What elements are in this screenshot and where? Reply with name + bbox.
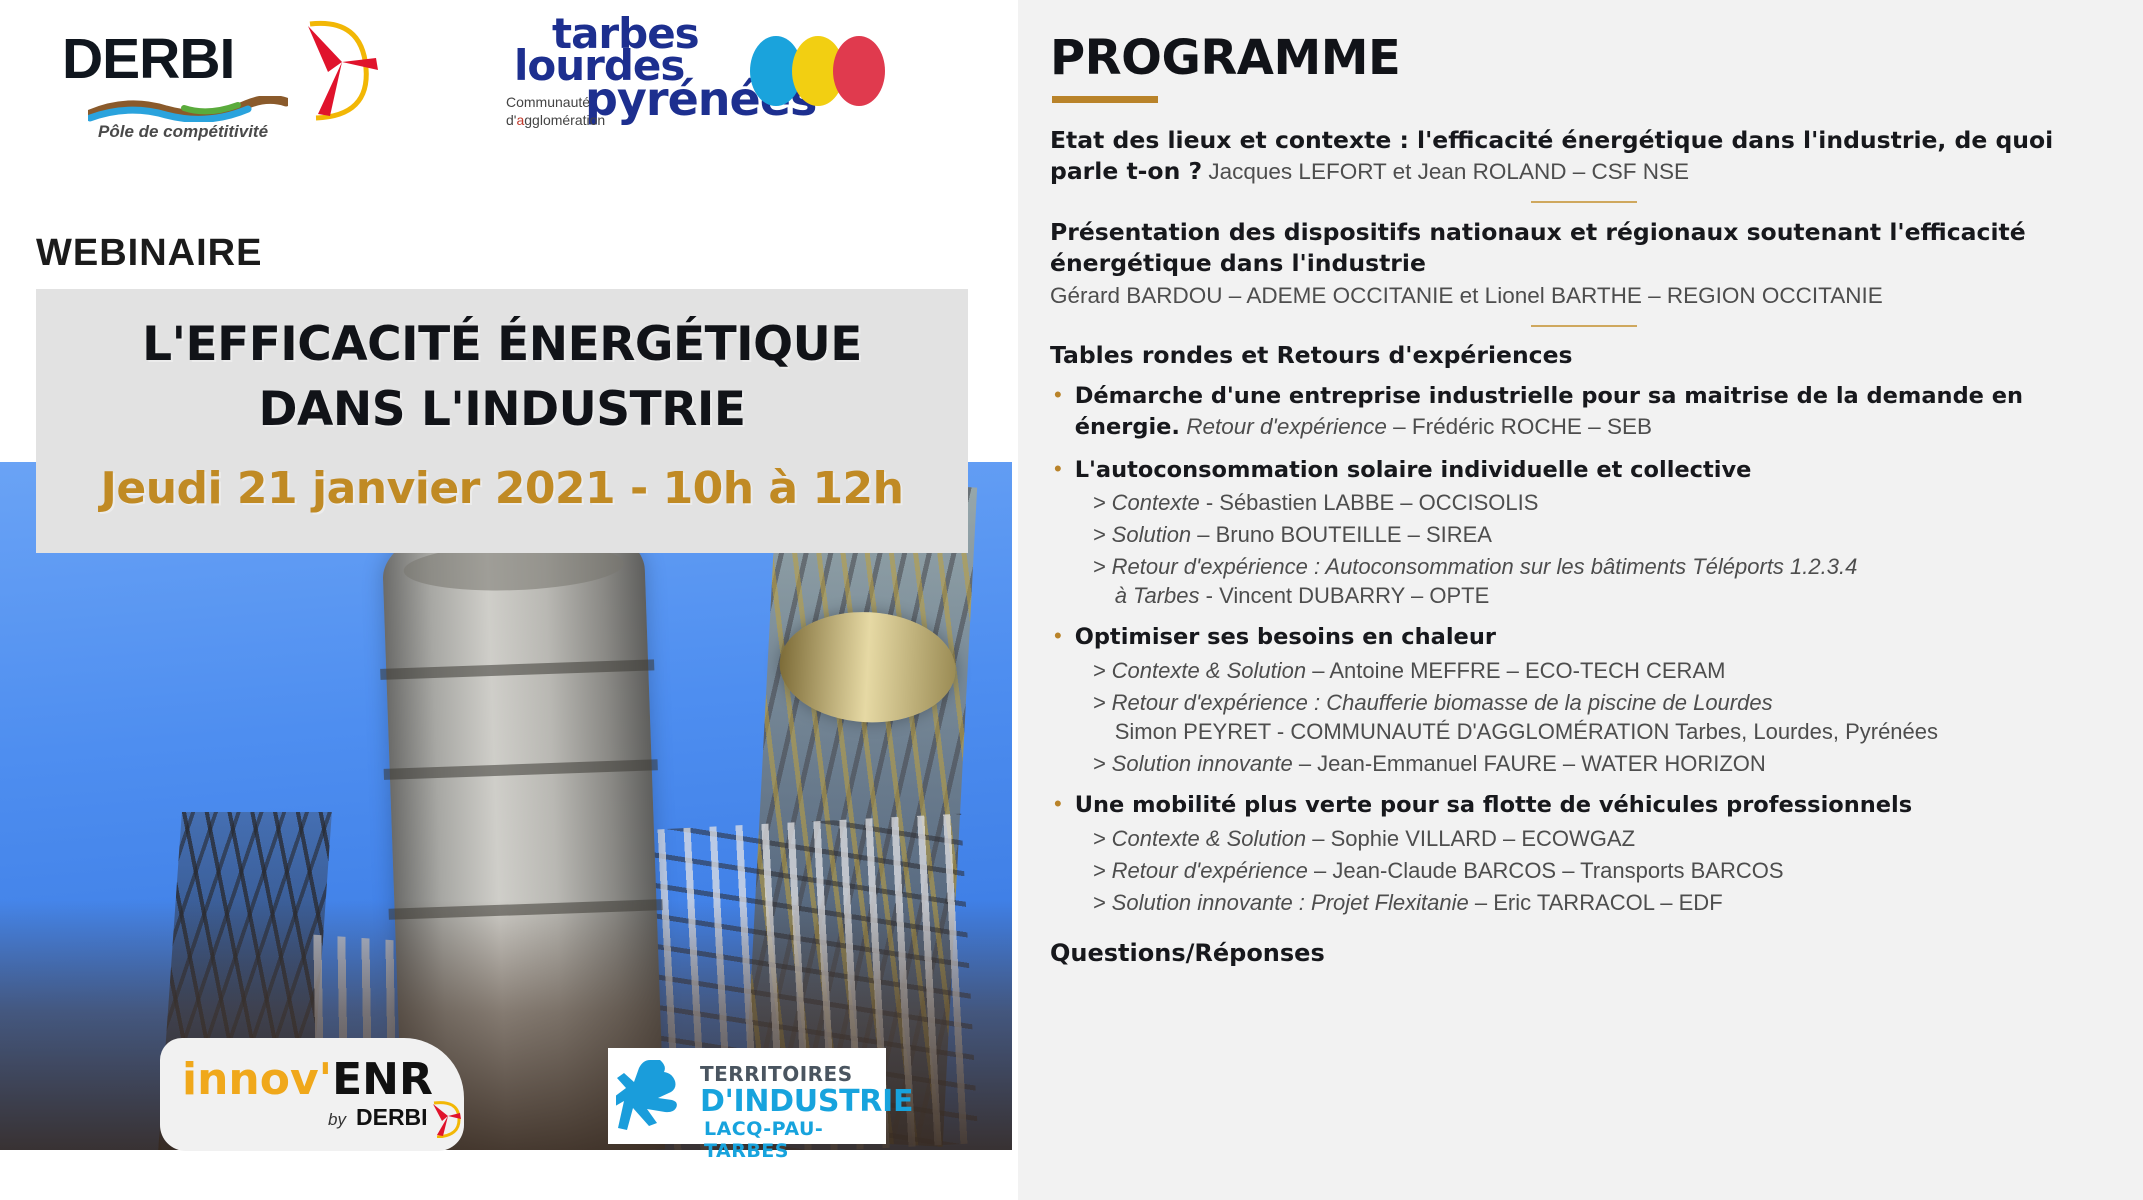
innov-enr-logo: innov'ENR by DERBI (160, 1038, 464, 1151)
poster-page: DERBI Pôle de compétitivité tarbes lourd… (0, 0, 2143, 1200)
bullet-lead: Optimiser ses besoins en chaleur (1075, 623, 2117, 653)
territoires-line-3: LACQ-PAU-TARBES (704, 1118, 886, 1162)
poster-title-line-1: L'EFFICACITÉ ÉNERGÉTIQUE (36, 317, 968, 372)
programme-bullet: • Démarche d'une entreprise industrielle… (1050, 382, 2117, 442)
bullet-lead: L'autoconsommation solaire individuelle … (1075, 456, 2117, 486)
programme-section-1: Etat des lieux et contexte : l'efficacit… (1050, 125, 2117, 187)
territoires-line-2: D'INDUSTRIE (700, 1084, 913, 1119)
tarbes-lourdes-pyrenees-logo: tarbes lourdes pyrénées Communauté d'agg… (500, 14, 900, 144)
bullet-sub-item: > Contexte & Solution – Antoine MEFFRE –… (1075, 656, 2117, 685)
questions-reponses-heading: Questions/Réponses (1050, 939, 2117, 967)
poster-title-line-2: DANS L'INDUSTRIE (36, 382, 968, 437)
section-divider (1531, 201, 1637, 203)
photo-silo-band (380, 659, 654, 680)
bullet-lead: Démarche d'une entreprise industrielle p… (1075, 382, 2117, 442)
section-2-speakers: Gérard BARDOU – ADEME OCCITANIE et Lione… (1050, 281, 2117, 311)
bullet-dot-icon: • (1054, 791, 1062, 917)
event-poster: DERBI Pôle de compétitivité tarbes lourd… (0, 0, 1012, 1200)
bullet-body: Optimiser ses besoins en chaleur > Conte… (1075, 623, 2117, 778)
programme-title: PROGRAMME (1050, 30, 2117, 86)
innov-enr-by-label: by (328, 1110, 346, 1130)
bullet-sub-item: > Contexte & Solution – Sophie VILLARD –… (1075, 824, 2117, 853)
derbi-logo: DERBI Pôle de compétitivité (62, 22, 392, 142)
bullet-dot-icon: • (1054, 623, 1062, 778)
bullet-sub-item: > Retour d'expérience : Autoconsommation… (1075, 552, 2117, 610)
bullet-body: L'autoconsommation solaire individuelle … (1075, 456, 2117, 611)
poster-title-box: L'EFFICACITÉ ÉNERGÉTIQUE DANS L'INDUSTRI… (36, 289, 968, 553)
bullet-dot-icon: • (1054, 382, 1062, 442)
poster-kicker: WEBINAIRE (36, 232, 262, 275)
bullet-sub-item: > Solution innovante : Projet Flexitanie… (1075, 888, 2117, 917)
territoires-line-1: TERRITOIRES (700, 1062, 853, 1086)
innov-enr-wordmark: innov'ENR (182, 1054, 433, 1105)
derbi-turbine-icon (290, 18, 380, 122)
bullet-body: Démarche d'une entreprise industrielle p… (1075, 382, 2117, 442)
programme-bullet: • Une mobilité plus verte pour sa flotte… (1050, 791, 2117, 917)
programme-bullet: • L'autoconsommation solaire individuell… (1050, 456, 2117, 611)
tables-rondes-heading: Tables rondes et Retours d'expériences (1050, 341, 2117, 369)
tlp-caption-communaute: Communauté (506, 94, 590, 110)
programme-panel: PROGRAMME Etat des lieux et contexte : l… (1018, 0, 2143, 1200)
photo-silo-band (384, 759, 658, 780)
bullet-body: Une mobilité plus verte pour sa flotte d… (1075, 791, 2117, 917)
bullet-sub-item: > Solution innovante – Jean-Emmanuel FAU… (1075, 749, 2117, 778)
territoires-industrie-logo: TERRITOIRES D'INDUSTRIE LACQ-PAU-TARBES (608, 1048, 886, 1144)
derbi-tagline: Pôle de compétitivité (98, 122, 268, 142)
bullet-sub-item: > Retour d'expérience – Jean-Claude BARC… (1075, 856, 2117, 885)
section-divider (1531, 325, 1637, 327)
bullet-sub-item: > Contexte - Sébastien LABBE – OCCISOLIS (1075, 488, 2117, 517)
section-2-heading: Présentation des dispositifs nationaux e… (1050, 217, 2117, 279)
bullet-sub-item: > Retour d'expérience : Chaufferie bioma… (1075, 688, 2117, 746)
derbi-wordmark: DERBI (62, 26, 234, 92)
industrial-plant-photo (0, 462, 1012, 1150)
bullet-sub-item: > Solution – Bruno BOUTEILLE – SIREA (1075, 520, 2117, 549)
poster-date-line: Jeudi 21 janvier 2021 - 10h à 12h (36, 463, 968, 514)
programme-bullet: • Optimiser ses besoins en chaleur > Con… (1050, 623, 2117, 778)
innov-derbi-turbine-icon (428, 1100, 462, 1138)
programme-section-2: Présentation des dispositifs nationaux e… (1050, 217, 2117, 311)
tlp-dot-red-icon (833, 36, 885, 106)
section-1-heading: Etat des lieux et contexte : l'efficacit… (1050, 125, 2117, 187)
header-logos: DERBI Pôle de compétitivité tarbes lourd… (0, 0, 1012, 150)
photo-tower-drum (777, 608, 959, 727)
programme-title-underline (1052, 96, 1158, 103)
innov-enr-brand: DERBI (356, 1104, 428, 1131)
derbi-wave-icon (88, 96, 288, 122)
bullet-dot-icon: • (1054, 456, 1062, 611)
bullet-lead: Une mobilité plus verte pour sa flotte d… (1075, 791, 2117, 821)
tlp-caption-agglomeration: d'agglomération (506, 112, 605, 128)
rooster-icon (616, 1056, 694, 1136)
